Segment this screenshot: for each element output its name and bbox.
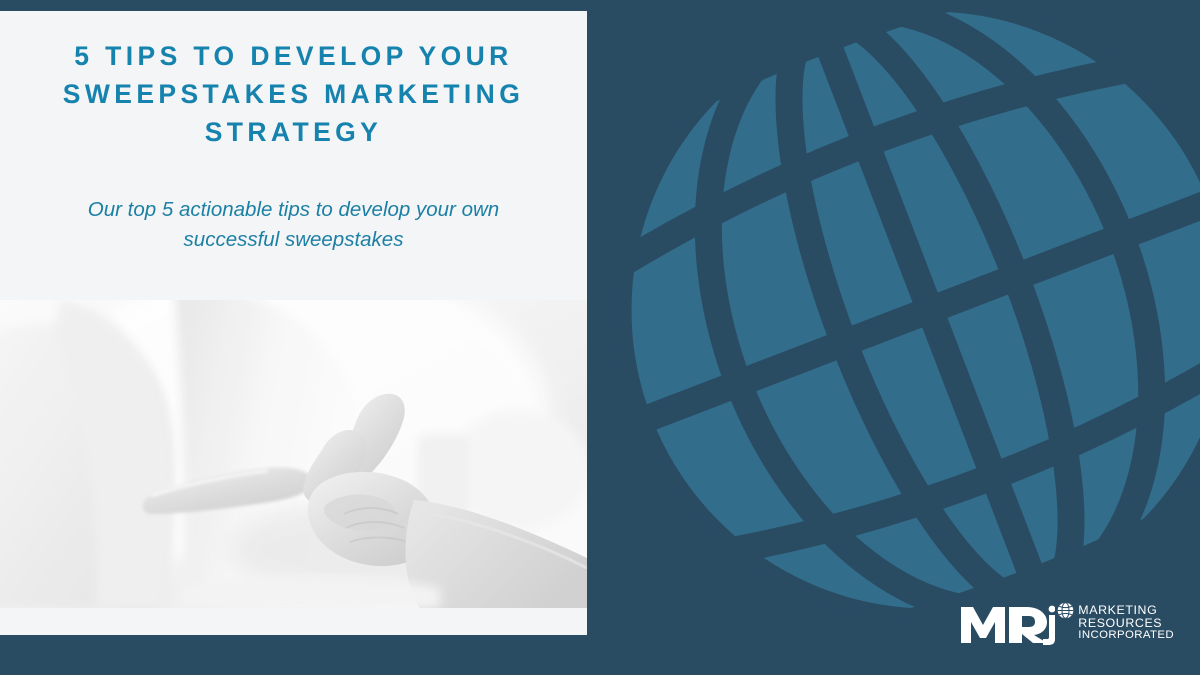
logo-wordmark-text: MARKETING RESOURCES INCORPORATED	[1078, 602, 1174, 642]
title-line-2: SWEEPSTAKES MARKETING	[63, 79, 524, 109]
page-subtitle: Our top 5 actionable tips to develop you…	[22, 195, 565, 255]
title-subtitle-spacer	[22, 151, 565, 195]
logo-line-marketing: MARKETING	[1078, 604, 1174, 617]
globe-icon	[1057, 602, 1074, 619]
hand-counting-photo-illustration	[0, 300, 587, 608]
logo-line-resources: RESOURCES	[1078, 617, 1174, 630]
slide-canvas: 5 TIPS TO DEVELOP YOUR SWEEPSTAKES MARKE…	[0, 0, 1200, 675]
mri-wordmark-icon	[959, 599, 1055, 645]
subtitle-line-1: Our top 5 actionable tips to develop you…	[88, 198, 499, 221]
top-accent-bar	[0, 0, 1200, 11]
content-card: 5 TIPS TO DEVELOP YOUR SWEEPSTAKES MARKE…	[0, 11, 587, 635]
logo-line-incorporated: INCORPORATED	[1078, 629, 1174, 642]
hero-photo	[0, 300, 587, 608]
subtitle-line-2: successful sweepstakes	[184, 228, 404, 251]
page-title: 5 TIPS TO DEVELOP YOUR SWEEPSTAKES MARKE…	[22, 37, 565, 151]
title-line-1: 5 TIPS TO DEVELOP YOUR	[74, 41, 512, 71]
title-line-3: STRATEGY	[205, 117, 383, 147]
mri-logo: MARKETING RESOURCES INCORPORATED	[959, 599, 1174, 645]
globe-grid-icon	[600, 0, 1200, 675]
card-text-block: 5 TIPS TO DEVELOP YOUR SWEEPSTAKES MARKE…	[0, 11, 587, 255]
